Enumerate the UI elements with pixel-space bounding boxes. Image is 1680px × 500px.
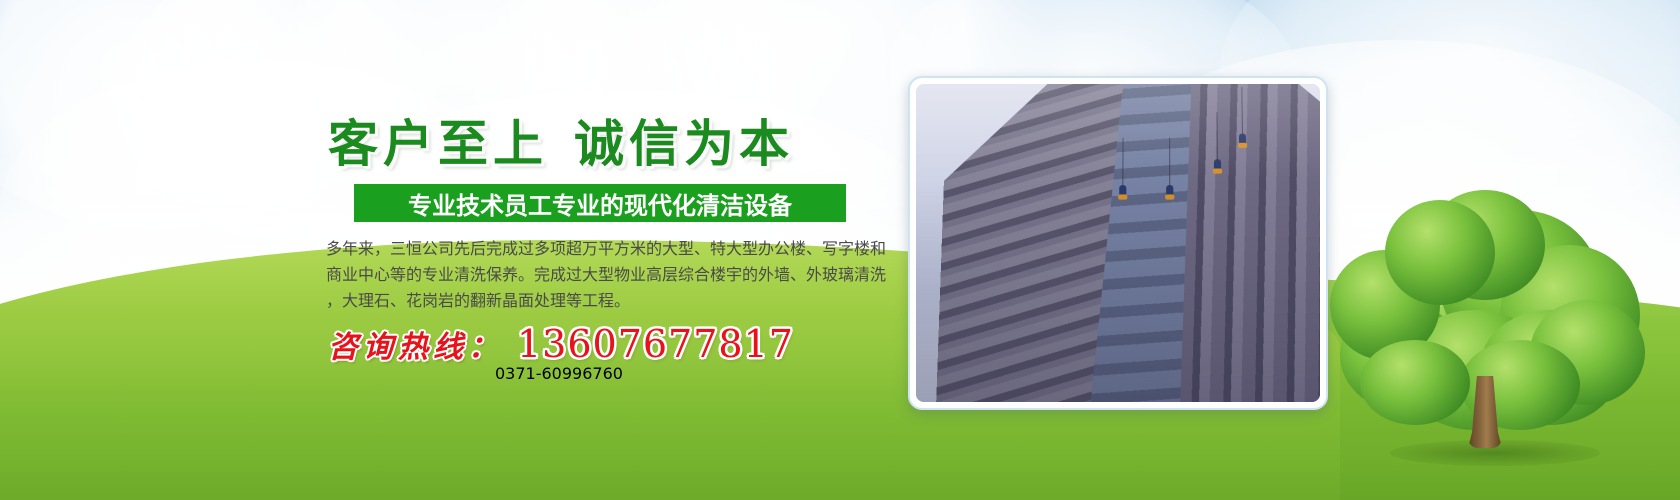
hotline-secondary: 0371-60996760: [495, 364, 623, 383]
headline-segment-1: 客户至上: [328, 114, 548, 173]
description-line-2: 商业中心等的专业清洗保养。完成过大型物业高层综合楼宇的外墙、外玻璃清洗: [326, 262, 886, 288]
building-photo-frame[interactable]: [908, 76, 1328, 410]
building-photo: [916, 84, 1320, 402]
hotline-label: 咨询热线：: [328, 330, 503, 365]
hero-banner: 客户至上诚信为本 专业技术员工专业的现代化清洁设备 多年来，三恒公司先后完成过多…: [0, 0, 1680, 500]
hotline-mobile-number[interactable]: 13607677817: [517, 322, 794, 366]
page-title: 客户至上诚信为本: [328, 104, 794, 176]
subtitle-banner: 专业技术员工专业的现代化清洁设备: [354, 184, 846, 222]
description-line-1: 多年来，三恒公司先后完成过多项超万平方米的大型、特大型办公楼、写字楼和: [326, 236, 886, 262]
tree-canopy-cluster: [1385, 200, 1495, 305]
foreground-tree: [1330, 190, 1650, 470]
headline-segment-2: 诚信为本: [574, 114, 794, 173]
tree-canopy-cluster: [1360, 340, 1470, 425]
hotline-landline-number[interactable]: 0371-60996760: [495, 364, 623, 383]
description-paragraph: 多年来，三恒公司先后完成过多项超万平方米的大型、特大型办公楼、写字楼和 商业中心…: [326, 236, 886, 314]
description-line-3: ，大理石、花岗岩的翻新晶面处理等工程。: [326, 288, 886, 314]
hotline-primary: 咨询热线：13607677817: [328, 322, 794, 366]
photo-vignette: [916, 84, 1320, 402]
cloud-shape: [0, 0, 360, 230]
subtitle-text: 专业技术员工专业的现代化清洁设备: [408, 186, 792, 221]
